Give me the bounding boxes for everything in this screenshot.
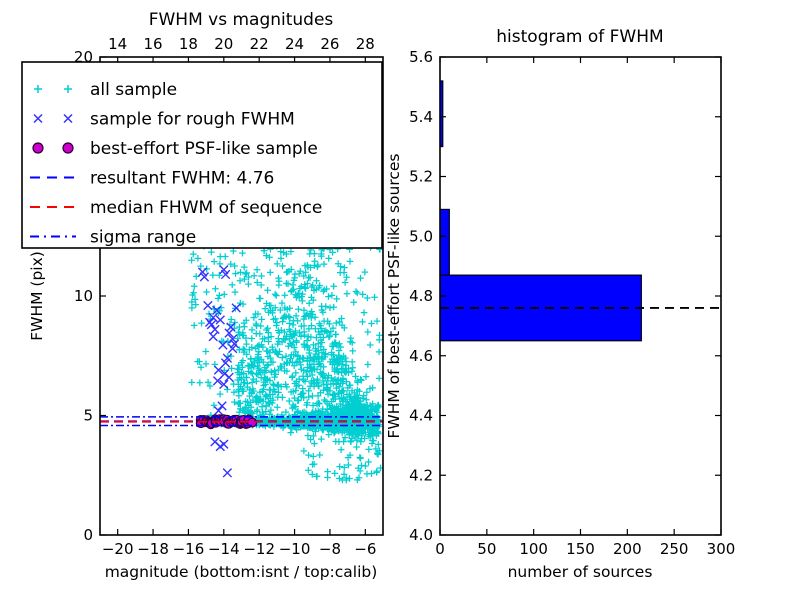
right-ytick-label: 4.4 [409,407,433,425]
right-xtick-label: 200 [613,540,642,558]
right-ytick-label: 5.4 [409,108,433,126]
matplotlib-figure: FWHM vs magnitudes −20−18−16−14−12−10−8−… [0,0,800,600]
left-ytick-label: 5 [83,407,93,425]
left-xtick-top-label: 26 [320,35,339,53]
left-panel-title: FWHM vs magnitudes [149,10,334,30]
left-ytick-label: 10 [74,287,93,305]
figure-canvas: FWHM vs magnitudes −20−18−16−14−12−10−8−… [0,0,800,600]
left-xtick-label: −18 [137,540,169,558]
right-ytick-label: 4.6 [409,347,433,365]
right-xtick-label: 300 [707,540,736,558]
legend-label: all sample [90,80,177,100]
legend-circle-icon [63,143,73,153]
right-ytick-label: 4.0 [409,526,433,544]
right-ytick-label: 4.8 [409,287,433,305]
right-yaxis-label: FWHM of best-effort PSF-like sources [385,153,403,438]
right-panel-title: histogram of FWHM [496,27,663,47]
right-xtick-label: 150 [566,540,595,558]
left-xtick-label: −6 [354,540,376,558]
legend-label: best-effort PSF-like sample [90,139,318,159]
right-ytick-label: 5.0 [409,227,433,245]
legend: all samplesample for rough FWHMbest-effo… [22,62,382,248]
histogram-bar [440,209,449,275]
left-xtick-top-label: 18 [179,35,198,53]
left-xtick-top-label: 14 [108,35,127,53]
legend-circle-icon [33,143,43,153]
left-ytick-label: 0 [83,526,93,544]
left-xtick-label: −16 [173,540,205,558]
right-xtick-label: 0 [435,540,445,558]
left-xtick-label: −12 [243,540,275,558]
legend-label: median FHWM of sequence [90,198,322,218]
left-xtick-top-label: 24 [285,35,304,53]
right-xtick-label: 50 [477,540,496,558]
right-ytick-label: 5.6 [409,48,433,66]
left-xtick-label: −14 [208,540,240,558]
right-ytick-label: 4.2 [409,466,433,484]
right-xtick-label: 250 [660,540,689,558]
right-ytick-label: 5.2 [409,168,433,186]
legend-label: sigma range [90,228,196,248]
right-xtick-label: 100 [519,540,548,558]
legend-label: resultant FWHM: 4.76 [90,169,274,189]
left-xtick-label: −10 [279,540,311,558]
legend-label: sample for rough FWHM [90,110,295,130]
left-xtick-label: −8 [319,540,341,558]
left-xaxis-label: magnitude (bottom:isnt / top:calib) [105,563,378,581]
left-xtick-top-label: 16 [144,35,163,53]
left-xtick-top-label: 22 [250,35,269,53]
left-xtick-top-label: 20 [214,35,233,53]
right-xaxis-label: number of sources [508,563,653,581]
left-xtick-label: −20 [102,540,134,558]
left-yaxis-label: FWHM (pix) [28,251,46,341]
left-xtick-top-label: 28 [356,35,375,53]
